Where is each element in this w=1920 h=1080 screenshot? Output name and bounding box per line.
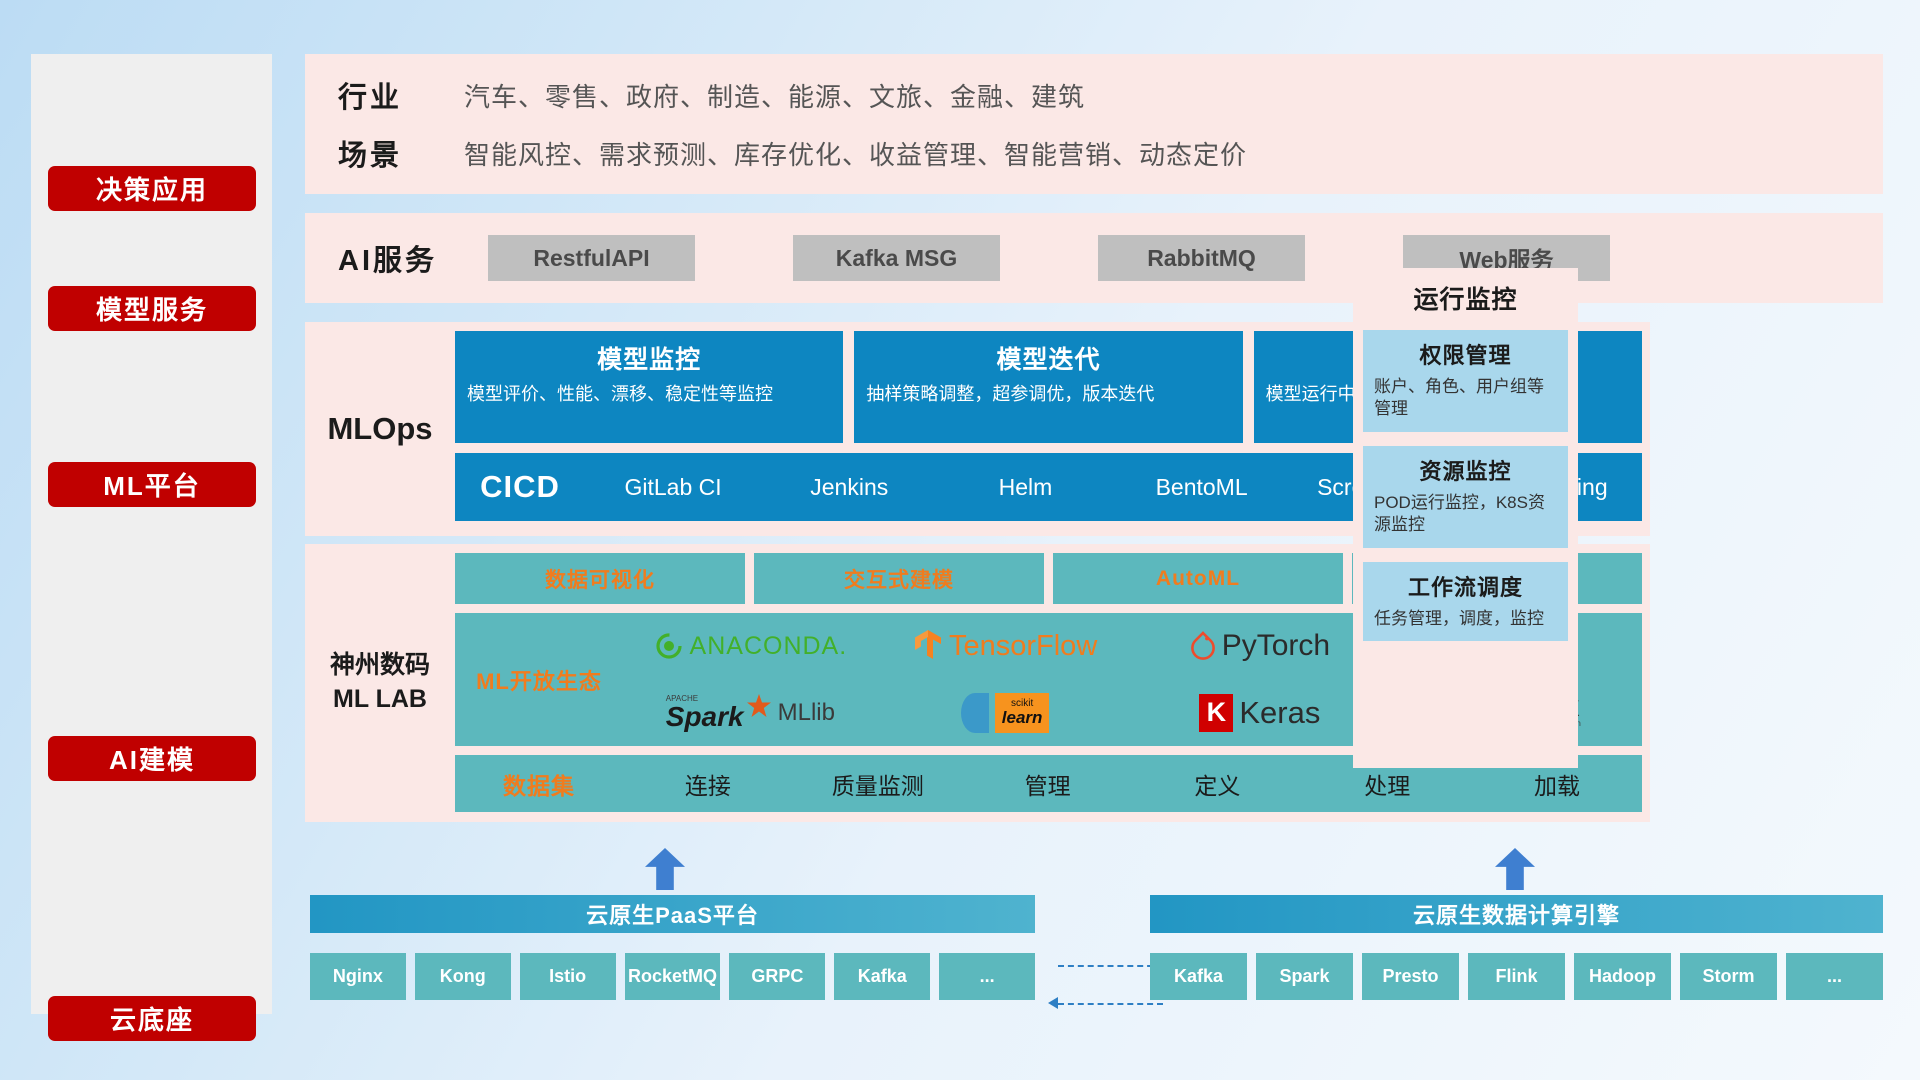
cloud-base-section: 云原生PaaS平台 Nginx Kong Istio RocketMQ GRPC… <box>305 895 1883 1015</box>
engine-chip-spark[interactable]: Spark <box>1256 953 1353 1000</box>
dataset-title: 数据集 <box>455 767 623 801</box>
industry-value: 汽车、零售、政府、制造、能源、文旅、金融、建筑 <box>464 77 1085 114</box>
engine-chip-flink[interactable]: Flink <box>1468 953 1565 1000</box>
spark-mllib-logo: APACHE Spark MLlib <box>666 693 835 733</box>
dataset-item-load[interactable]: 加载 <box>1472 767 1642 801</box>
cicd-title: CICD <box>455 469 585 505</box>
dataset-item-process[interactable]: 处理 <box>1302 767 1472 801</box>
scikit-learn-logo: scikit learn <box>961 693 1049 733</box>
ai-service-chips: RestfulAPI Kafka MSG RabbitMQ Web服务 <box>488 235 1883 281</box>
dataset-item-manage[interactable]: 管理 <box>963 767 1133 801</box>
rail-item-label: AI建模 <box>109 740 195 777</box>
mlops-label: MLOps <box>305 322 455 536</box>
cicd-item-jenkins[interactable]: Jenkins <box>761 475 937 499</box>
engine-chip-kafka[interactable]: Kafka <box>1150 953 1247 1000</box>
pytorch-logo: PyTorch <box>1190 629 1330 663</box>
lab-tab-automl[interactable]: AutoML <box>1053 553 1343 604</box>
mlops-card-model-iteration[interactable]: 模型迭代 抽样策略调整，超参调优，版本迭代 <box>854 331 1242 443</box>
card-desc: 抽样策略调整，超参调优，版本迭代 <box>866 383 1230 407</box>
scenario-key: 场景 <box>338 132 464 174</box>
scikit-learn-label: learn <box>1002 709 1043 726</box>
cloud-paas-title: 云原生PaaS平台 <box>310 895 1035 933</box>
lab-tab-interactive-modeling[interactable]: 交互式建模 <box>754 553 1044 604</box>
card-title: 模型监控 <box>467 340 831 376</box>
keras-logo: K Keras <box>1199 694 1320 732</box>
monitoring-card-resources[interactable]: 资源监控 POD运行监控，K8S资源监控 <box>1363 446 1568 548</box>
rail-item-decision-apps[interactable]: 决策应用 <box>48 166 256 211</box>
paas-chip-istio[interactable]: Istio <box>520 953 616 1000</box>
cloud-data-engine-chips: Kafka Spark Presto Flink Hadoop Storm ..… <box>1150 953 1883 1000</box>
paas-chip-grpc[interactable]: GRPC <box>729 953 825 1000</box>
lab-tab-data-visualization[interactable]: 数据可视化 <box>455 553 745 604</box>
cicd-item-bentoml[interactable]: BentoML <box>1114 475 1290 499</box>
mlops-card-model-monitoring[interactable]: 模型监控 模型评价、性能、漂移、稳定性等监控 <box>455 331 843 443</box>
paas-chip-rocketmq[interactable]: RocketMQ <box>625 953 721 1000</box>
mllib-label: MLlib <box>778 699 835 727</box>
keras-label: Keras <box>1239 695 1320 731</box>
industry-row: 行业 汽车、零售、政府、制造、能源、文旅、金融、建筑 <box>338 66 1883 124</box>
paas-chip-more[interactable]: ... <box>939 953 1035 1000</box>
cloud-paas-chips: Nginx Kong Istio RocketMQ GRPC Kafka ... <box>310 953 1035 1000</box>
paas-chip-kafka[interactable]: Kafka <box>834 953 930 1000</box>
ml-ecosystem-label: ML开放生态 <box>455 664 623 696</box>
paas-chip-kong[interactable]: Kong <box>415 953 511 1000</box>
ml-lab-label-line2: ML LAB <box>333 683 427 717</box>
anaconda-mark-icon <box>654 631 684 661</box>
ml-lab-label: 神州数码 ML LAB <box>305 544 455 822</box>
ai-service-band: AI服务 RestfulAPI Kafka MSG RabbitMQ Web服务 <box>305 213 1883 303</box>
monitoring-card-workflow[interactable]: 工作流调度 任务管理，调度，监控 <box>1363 562 1568 641</box>
ai-chip-restfulapi[interactable]: RestfulAPI <box>488 235 695 281</box>
tensorflow-mark-icon <box>913 629 943 663</box>
industry-key: 行业 <box>338 74 464 116</box>
card-desc: POD运行监控，K8S资源监控 <box>1374 492 1557 537</box>
applications-band: 行业 汽车、零售、政府、制造、能源、文旅、金融、建筑 场景 智能风控、需求预测、… <box>305 54 1883 194</box>
spark-star-icon <box>746 693 772 719</box>
rail-item-label: ML平台 <box>103 466 201 503</box>
cicd-item-helm[interactable]: Helm <box>937 475 1113 499</box>
dataset-item-quality-monitoring[interactable]: 质量监测 <box>793 767 963 801</box>
anaconda-logo: ANACONDA. <box>654 631 848 661</box>
rail-item-label: 云底座 <box>110 1000 194 1037</box>
engine-chip-presto[interactable]: Presto <box>1362 953 1459 1000</box>
ai-chip-rabbitmq[interactable]: RabbitMQ <box>1098 235 1305 281</box>
card-title: 工作流调度 <box>1374 570 1557 602</box>
card-desc: 账户、角色、用户组等管理 <box>1374 376 1557 421</box>
paas-chip-nginx[interactable]: Nginx <box>310 953 406 1000</box>
cicd-item-gitlab-ci[interactable]: GitLab CI <box>585 475 761 499</box>
keras-mark-icon: K <box>1199 694 1233 732</box>
engine-chip-storm[interactable]: Storm <box>1680 953 1777 1000</box>
keras-k: K <box>1207 697 1227 728</box>
rail-item-label: 决策应用 <box>96 170 208 207</box>
rail-item-label: 模型服务 <box>96 290 208 327</box>
dataset-item-define[interactable]: 定义 <box>1132 767 1302 801</box>
engine-chip-hadoop[interactable]: Hadoop <box>1574 953 1671 1000</box>
card-title: 权限管理 <box>1374 338 1557 370</box>
pytorch-mark-icon <box>1190 631 1216 661</box>
architecture-diagram: 决策应用 模型服务 ML平台 AI建模 云底座 行业 汽车、零售、政府、制造、能… <box>0 0 1920 1080</box>
ml-lab-label-line1: 神州数码 <box>330 649 430 683</box>
cloud-data-engine-group: 云原生数据计算引擎 Kafka Spark Presto Flink Hadoo… <box>1150 895 1883 1000</box>
rail-item-model-service[interactable]: 模型服务 <box>48 286 256 331</box>
up-arrow-data-engine-icon <box>1495 848 1535 890</box>
scenario-value: 智能风控、需求预测、库存优化、收益管理、智能营销、动态定价 <box>464 135 1247 172</box>
cloud-paas-group: 云原生PaaS平台 Nginx Kong Istio RocketMQ GRPC… <box>310 895 1035 1000</box>
tensorflow-label: TensorFlow <box>949 630 1097 663</box>
rail-item-ml-platform[interactable]: ML平台 <box>48 462 256 507</box>
ai-chip-kafka-msg[interactable]: Kafka MSG <box>793 235 1000 281</box>
spark-label: Spark <box>666 703 744 731</box>
cloud-data-engine-title: 云原生数据计算引擎 <box>1150 895 1883 933</box>
scikit-learn-badge: scikit learn <box>995 693 1049 733</box>
rail-item-ai-modeling[interactable]: AI建模 <box>48 736 256 781</box>
dataset-item-connect[interactable]: 连接 <box>623 767 793 801</box>
engine-chip-more[interactable]: ... <box>1786 953 1883 1000</box>
pytorch-label: PyTorch <box>1222 629 1330 663</box>
scikit-blob-icon <box>961 693 989 733</box>
ai-service-label: AI服务 <box>338 237 488 279</box>
card-title: 资源监控 <box>1374 454 1557 486</box>
up-arrow-paas-icon <box>645 848 685 890</box>
tensorflow-logo: TensorFlow <box>913 629 1097 663</box>
scenario-row: 场景 智能风控、需求预测、库存优化、收益管理、智能营销、动态定价 <box>338 124 1883 182</box>
monitoring-column: 运行监控 权限管理 账户、角色、用户组等管理 资源监控 POD运行监控，K8S资… <box>1353 268 1578 768</box>
monitoring-title: 运行监控 <box>1363 280 1568 316</box>
layer-rail: 决策应用 模型服务 ML平台 AI建模 云底座 <box>31 54 272 1014</box>
card-desc: 模型评价、性能、漂移、稳定性等监控 <box>467 383 831 407</box>
monitoring-card-permissions[interactable]: 权限管理 账户、角色、用户组等管理 <box>1363 330 1568 432</box>
card-title: 模型迭代 <box>866 340 1230 376</box>
card-desc: 任务管理，调度，监控 <box>1374 608 1557 630</box>
anaconda-label: ANACONDA. <box>690 632 848 661</box>
rail-item-cloud-base[interactable]: 云底座 <box>48 996 256 1041</box>
